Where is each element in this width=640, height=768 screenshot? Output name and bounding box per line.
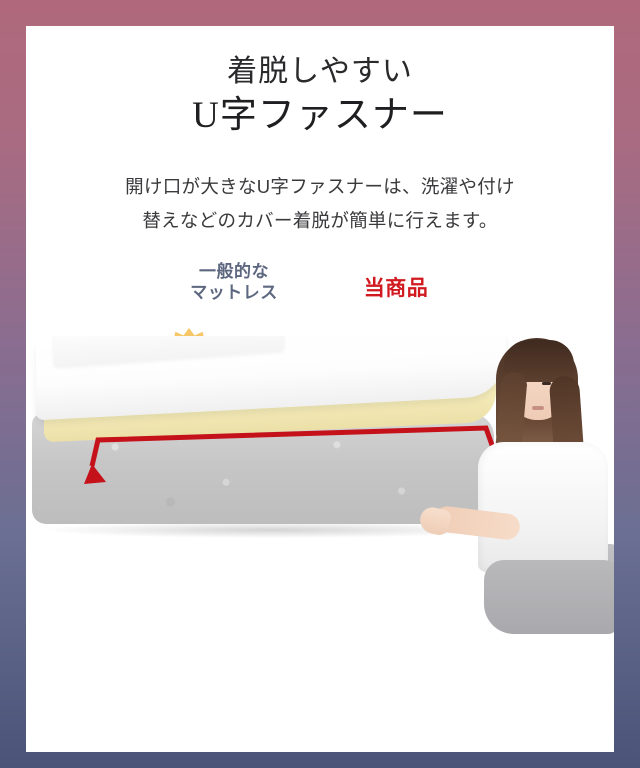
body-line-1: 開け口が大きなU字ファスナーは、洗濯や付け [26, 170, 614, 204]
body-line-2: 替えなどのカバー着脱が簡単に行えます。 [26, 204, 614, 238]
model-pants [484, 560, 614, 634]
model-shirt [478, 442, 608, 572]
model-photo [468, 336, 614, 632]
infographic-page: 着脱しやすい U字ファスナー 開け口が大きなU字ファスナーは、洗濯や付け 替えな… [0, 0, 640, 768]
photo-bottom-fade [26, 698, 614, 752]
generic-label-line-1: 一般的な [174, 262, 294, 283]
our-product-label: 当商品 [326, 276, 466, 302]
product-photo [26, 336, 614, 752]
title-line-1: 着脱しやすい [26, 54, 614, 91]
model-eye [542, 382, 551, 385]
title-line-2: U字ファスナー [26, 93, 614, 139]
generic-label-line-2: マットレス [174, 283, 294, 304]
generic-mattress-label: 一般的な マットレス [174, 262, 294, 303]
body-copy: 開け口が大きなU字ファスナーは、洗濯や付け 替えなどのカバー着脱が簡単に行えます… [26, 170, 614, 238]
page-title: 着脱しやすい U字ファスナー [26, 54, 614, 139]
content-card: 着脱しやすい U字ファスナー 開け口が大きなU字ファスナーは、洗濯や付け 替えな… [26, 26, 614, 752]
model-mouth [532, 406, 544, 410]
